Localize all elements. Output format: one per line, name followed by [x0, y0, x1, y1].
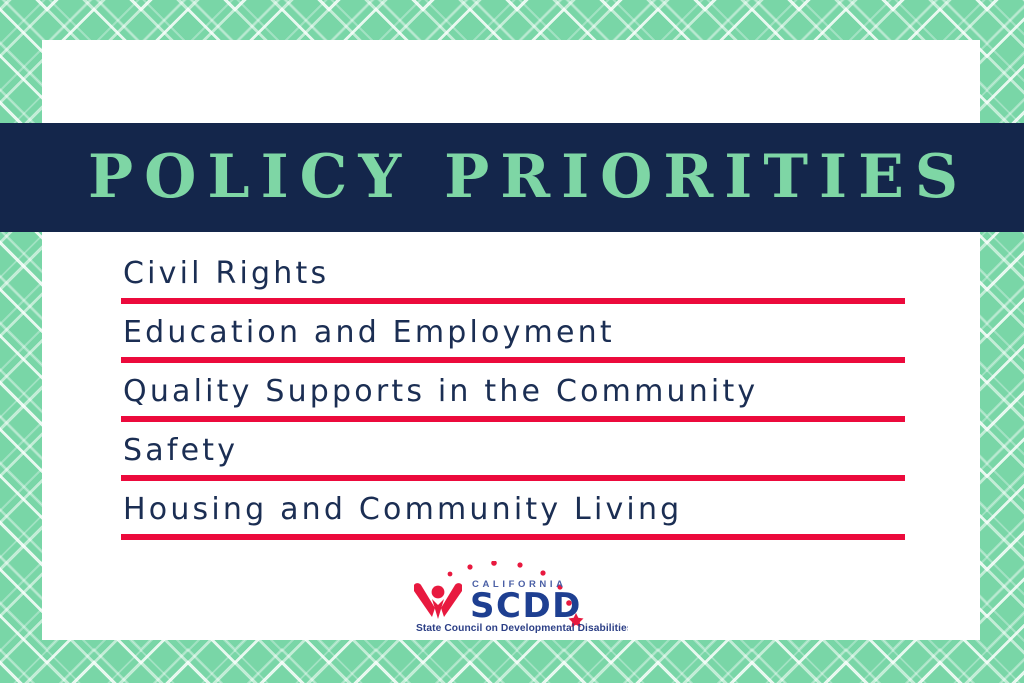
priority-label-civil-rights: Civil Rights: [121, 252, 905, 296]
logo-figure-mark: [414, 583, 462, 619]
priority-underline: [121, 475, 905, 481]
list-item: Housing and Community Living: [121, 488, 905, 547]
priority-underline: [121, 416, 905, 422]
list-item: Education and Employment: [121, 311, 905, 370]
priority-label-housing-and-community-living: Housing and Community Living: [121, 488, 905, 532]
priority-label-education-and-employment: Education and Employment: [121, 311, 905, 355]
page-title: POLICY PRIORITIES: [88, 123, 969, 232]
title-band: POLICY PRIORITIES: [0, 123, 1024, 232]
list-item: Safety: [121, 429, 905, 488]
priority-underline: [121, 534, 905, 540]
priority-label-safety: Safety: [121, 429, 905, 473]
priority-list: Civil Rights Education and Employment Qu…: [121, 252, 905, 547]
logo-tagline: State Council on Developmental Disabilit…: [416, 623, 628, 634]
priority-underline: [121, 357, 905, 363]
priority-underline: [121, 298, 905, 304]
priority-label-quality-supports-in-the-community: Quality Supports in the Community: [121, 370, 905, 414]
list-item: Civil Rights: [121, 252, 905, 311]
logo-acronym: SCDD: [470, 586, 582, 626]
scdd-logo: CALIFORNIA SCDD State Council on Develop…: [408, 561, 628, 635]
policy-priorities-poster: POLICY PRIORITIES Civil Rights Education…: [0, 0, 1024, 683]
list-item: Quality Supports in the Community: [121, 370, 905, 429]
